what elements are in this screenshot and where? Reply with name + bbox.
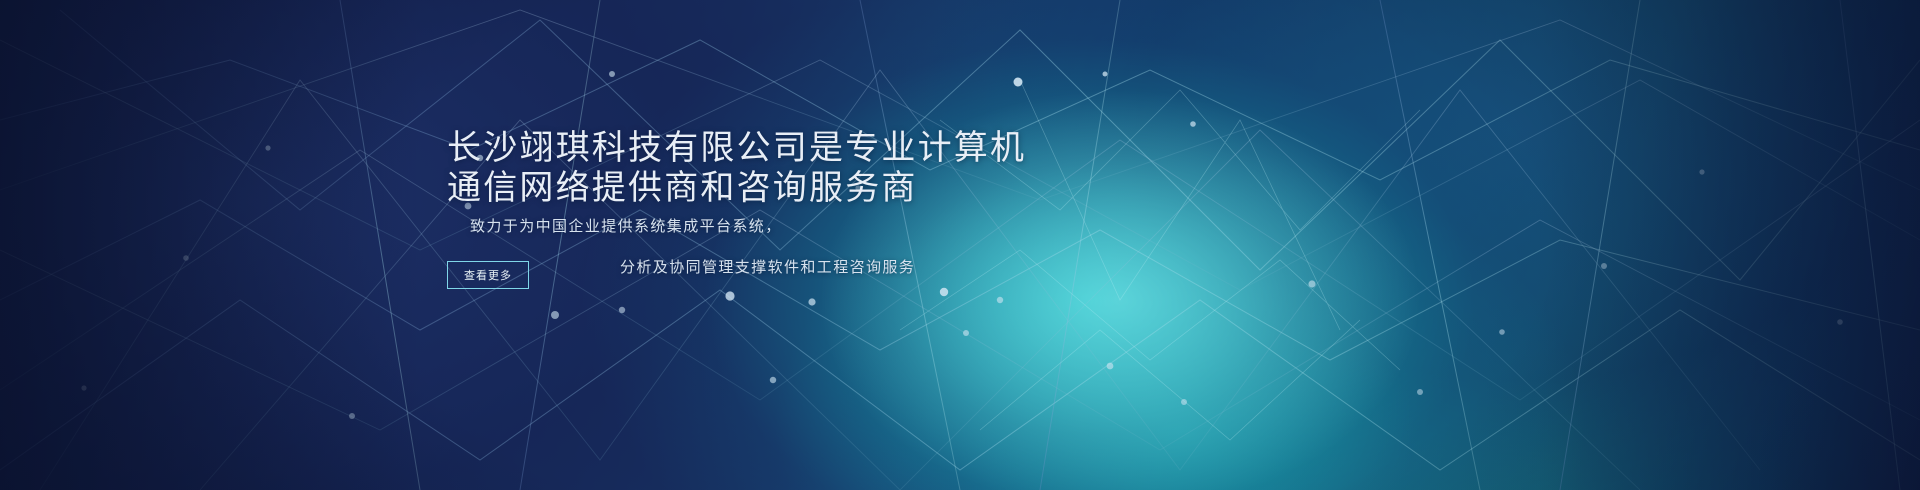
hero-headline: 长沙翊琪科技有限公司是专业计算机 通信网络提供商和咨询服务商 [447, 128, 1026, 208]
headline-line-2: 通信网络提供商和咨询服务商 [447, 168, 1026, 208]
view-more-button[interactable]: 查看更多 [447, 261, 529, 289]
banner-content: 长沙翊琪科技有限公司是专业计算机 通信网络提供商和咨询服务商 致力于为中国企业提… [0, 0, 1920, 490]
headline-line-1: 长沙翊琪科技有限公司是专业计算机 [447, 129, 1026, 167]
hero-subheadline-line-2: 分析及协同管理支撑软件和工程咨询服务 [620, 256, 915, 277]
hero-subheadline-line-1: 致力于为中国企业提供系统集成平台系统， [470, 215, 782, 236]
hero-banner: 长沙翊琪科技有限公司是专业计算机 通信网络提供商和咨询服务商 致力于为中国企业提… [0, 0, 1920, 490]
